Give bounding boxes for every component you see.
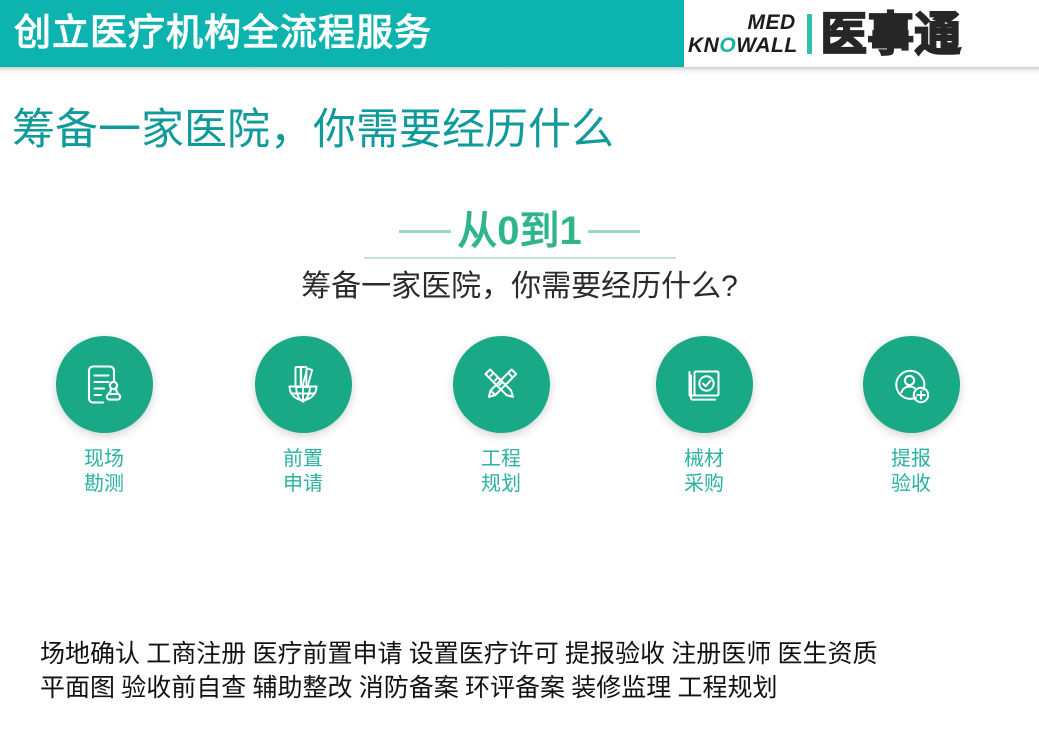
- step-item-engineering-plan[interactable]: 工程 规划: [426, 336, 576, 497]
- step-label-line2: 采购: [684, 472, 724, 497]
- step-label: 提报 验收: [891, 447, 931, 497]
- ribbon-underline: [364, 257, 676, 259]
- step-label: 现场 勘测: [84, 447, 124, 497]
- logo-knowall-text: KNOWALL: [688, 35, 798, 56]
- ribbon-line-left: [399, 230, 451, 233]
- step-label-line1: 前置: [283, 447, 323, 472]
- step-label: 械材 采购: [684, 447, 724, 497]
- logo-divider: [807, 14, 812, 54]
- ribbon-heading-row: 从0到1: [399, 207, 640, 255]
- logo-knowall-post: WALL: [736, 34, 797, 57]
- user-add-icon: [885, 359, 937, 411]
- step-item-submit-acceptance[interactable]: 提报 验收: [836, 336, 986, 497]
- keyword-list: 场地确认 工商注册 医疗前置申请 设置医疗许可 提报验收 注册医师 医生资质 平…: [40, 638, 1010, 706]
- logo-wordmark: MED KNOWALL: [688, 12, 798, 56]
- ribbon-line-right: [588, 230, 640, 233]
- logo-knowall-accent-o: O: [719, 34, 736, 57]
- step-label: 工程 规划: [481, 447, 521, 497]
- step-label-line2: 勘测: [84, 472, 124, 497]
- keyword-line-2: 平面图 验收前自查 辅助整改 消防备案 环评备案 装修监理 工程规划: [40, 672, 1010, 706]
- step-label-line1: 械材: [684, 447, 724, 472]
- ribbon-heading: 从0到1: [457, 208, 582, 254]
- step-icon-circle[interactable]: [656, 336, 753, 433]
- pencil-ruler-icon: [475, 359, 527, 411]
- logo-brand-cn: 医事通: [821, 9, 962, 59]
- step-label-line2: 申请: [283, 472, 323, 497]
- step-label-line1: 现场: [84, 447, 124, 472]
- logo-knowall-pre: KN: [688, 34, 719, 57]
- layers-check-icon: [678, 359, 730, 411]
- step-icon-circle[interactable]: [863, 336, 960, 433]
- step-icon-circle[interactable]: [255, 336, 352, 433]
- keyword-line-1: 场地确认 工商注册 医疗前置申请 设置医疗许可 提报验收 注册医师 医生资质: [40, 638, 1010, 672]
- step-label-line1: 提报: [891, 447, 931, 472]
- step-item-equipment-purchase[interactable]: 械材 采购: [629, 336, 779, 497]
- document-stamp-icon: [78, 359, 130, 411]
- step-label-line2: 规划: [481, 472, 521, 497]
- step-icon-circle[interactable]: [453, 336, 550, 433]
- brand-logo: MED KNOWALL 医事通: [688, 2, 1036, 66]
- header-title: 创立医疗机构全流程服务: [14, 9, 432, 57]
- header-shadow-divider: [0, 67, 1039, 74]
- steps-row: 现场 勘测 前置 申请: [0, 336, 1039, 511]
- step-item-pre-application[interactable]: 前置 申请: [228, 336, 378, 497]
- step-icon-circle[interactable]: [56, 336, 153, 433]
- page-title: 筹备一家医院，你需要经历什么: [12, 101, 614, 159]
- step-item-site-survey[interactable]: 现场 勘测: [29, 336, 179, 497]
- ribbon-section: 从0到1 筹备一家医院，你需要经历什么?: [0, 207, 1039, 307]
- step-label-line1: 工程: [481, 447, 521, 472]
- logo-med-text: MED: [748, 12, 798, 33]
- ribbon-subtitle: 筹备一家医院，你需要经历什么?: [301, 267, 738, 307]
- step-label-line2: 验收: [891, 472, 931, 497]
- books-globe-icon: [277, 359, 329, 411]
- step-label: 前置 申请: [283, 447, 323, 497]
